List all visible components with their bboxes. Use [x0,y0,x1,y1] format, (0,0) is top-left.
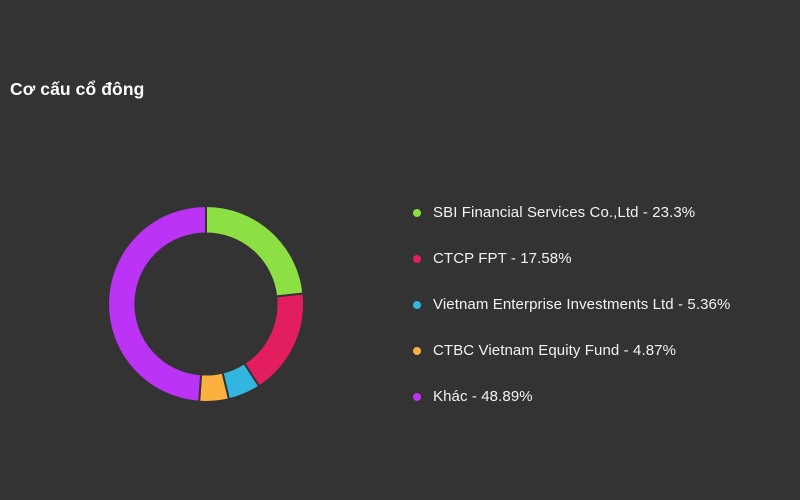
legend-color-swatch-icon [413,347,421,355]
legend-item-2[interactable]: CTCP FPT - 17.58% [413,249,800,269]
donut-slice-5[interactable]: Khác - 48.89% [108,206,206,402]
donut-chart-svg: SBI Financial Services Co.,Ltd - 23.3%CT… [108,206,304,402]
shareholder-structure-chart-card: Cơ cấu cổ đông SBI Financial Services Co… [0,0,800,500]
donut-slice-1[interactable]: SBI Financial Services Co.,Ltd - 23.3% [206,206,303,296]
legend-item-label: CTCP FPT - 17.58% [433,249,572,269]
legend-item-4[interactable]: CTBC Vietnam Equity Fund - 4.87% [413,341,800,361]
donut-slice-2[interactable]: CTCP FPT - 17.58% [244,294,304,387]
page-title: Cơ cấu cổ đông [10,79,144,100]
legend-item-label: CTBC Vietnam Equity Fund - 4.87% [433,341,676,361]
donut-chart: SBI Financial Services Co.,Ltd - 23.3%CT… [108,206,304,402]
legend-color-swatch-icon [413,301,421,309]
legend-color-swatch-icon [413,209,421,217]
legend-item-label: SBI Financial Services Co.,Ltd - 23.3% [433,203,695,223]
legend-item-label: Khác - 48.89% [433,387,533,407]
legend-item-3[interactable]: Vietnam Enterprise Investments Ltd - 5.3… [413,295,800,315]
chart-legend: SBI Financial Services Co.,Ltd - 23.3%CT… [413,203,800,407]
legend-color-swatch-icon [413,255,421,263]
legend-item-1[interactable]: SBI Financial Services Co.,Ltd - 23.3% [413,203,800,223]
donut-slice-4[interactable]: CTBC Vietnam Equity Fund - 4.87% [199,373,229,402]
legend-item-label: Vietnam Enterprise Investments Ltd - 5.3… [433,295,730,315]
donut-slice-group: SBI Financial Services Co.,Ltd - 23.3%CT… [108,206,304,402]
legend-color-swatch-icon [413,393,421,401]
legend-item-5[interactable]: Khác - 48.89% [413,387,800,407]
